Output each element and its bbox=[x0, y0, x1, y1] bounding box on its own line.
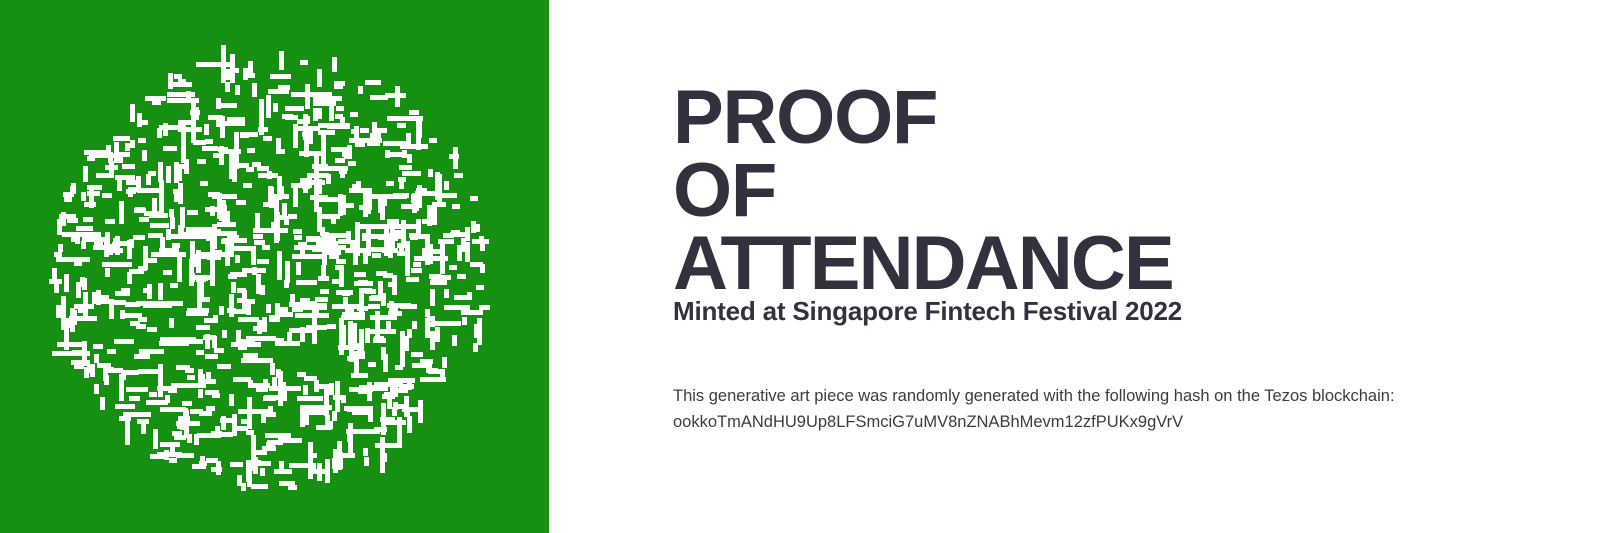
hash-description-text: This generative art piece was randomly g… bbox=[673, 384, 1503, 410]
title-line-of: OF bbox=[673, 155, 1553, 228]
hash-description-block: This generative art piece was randomly g… bbox=[673, 384, 1503, 435]
card-text-panel: PROOF OF ATTENDANCE Minted at Singapore … bbox=[549, 0, 1600, 533]
proof-of-attendance-card: PROOF OF ATTENDANCE Minted at Singapore … bbox=[0, 0, 1600, 533]
title-line-attendance: ATTENDANCE bbox=[673, 228, 1553, 301]
generative-disc-art-icon bbox=[0, 0, 549, 533]
card-subtitle: Minted at Singapore Fintech Festival 202… bbox=[673, 297, 1182, 327]
page-title: PROOF OF ATTENDANCE bbox=[673, 82, 1553, 301]
title-line-proof: PROOF bbox=[673, 82, 1553, 155]
generative-art-panel bbox=[0, 0, 549, 533]
hash-value: ookkoTmANdHU9Up8LFSmciG7uMV8nZNABhMevm12… bbox=[673, 410, 1503, 436]
